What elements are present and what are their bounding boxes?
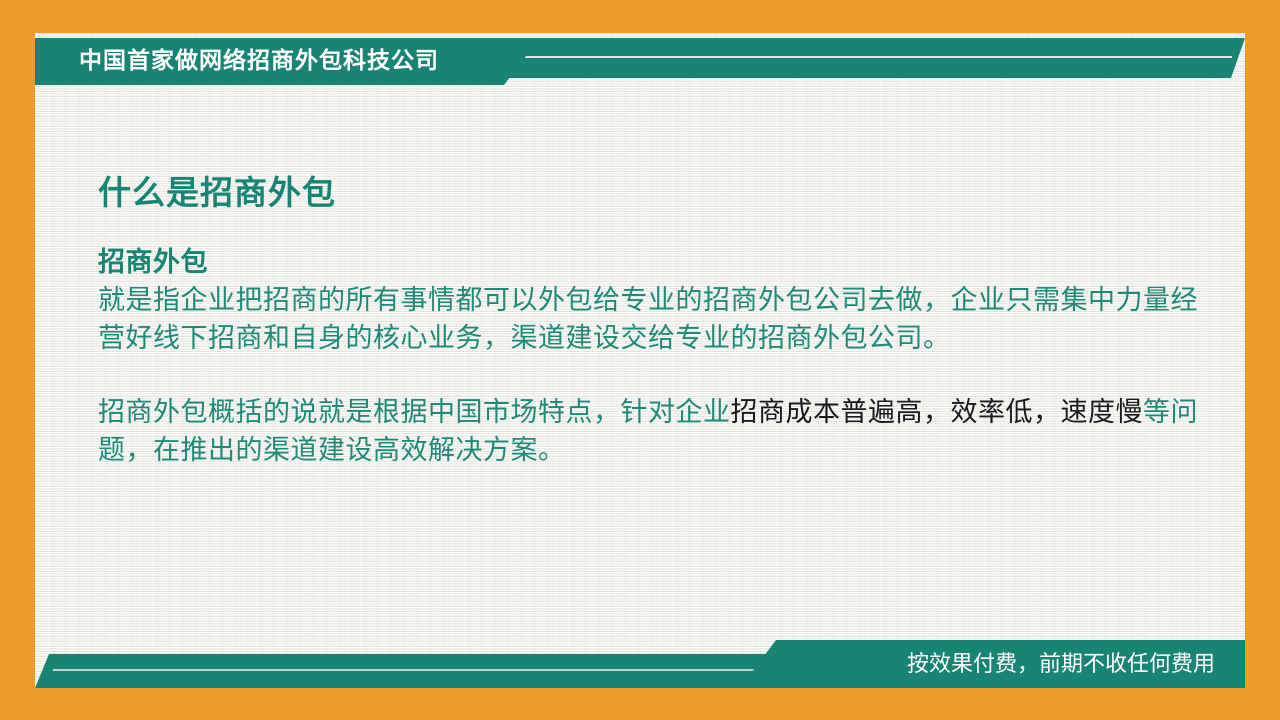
paragraph-spacer xyxy=(98,358,1218,394)
footer-tagline: 按效果付费，前期不收任何费用 xyxy=(907,651,1215,679)
section-title: 什么是招商外包 xyxy=(98,170,1218,216)
paragraph-summary: 招商外包概括的说就是根据中国市场特点，针对企业招商成本普遍高，效率低，速度慢等问… xyxy=(98,394,1218,470)
slide-canvas: 中国首家做网络招商外包科技公司 什么是招商外包 招商外包就是指企业把招商的所有事… xyxy=(0,0,1280,720)
summary-part-1: 招商外包概括的说就是根据中国市场特点，针对企业 xyxy=(98,397,731,428)
footer-hairline xyxy=(53,669,783,671)
footer-band: 按效果付费，前期不收任何费用 xyxy=(35,640,1245,688)
summary-highlight: 招商成本普遍高，效率低，速度慢 xyxy=(731,397,1144,428)
header-band: 中国首家做网络招商外包科技公司 xyxy=(35,33,1245,85)
slide-content: 什么是招商外包 招商外包就是指企业把招商的所有事情都可以外包给专业的招商外包公司… xyxy=(98,170,1218,470)
header-title: 中国首家做网络招商外包科技公司 xyxy=(79,46,439,76)
definition-term: 招商外包 xyxy=(98,244,1218,282)
paragraph-definition: 招商外包就是指企业把招商的所有事情都可以外包给专业的招商外包公司去做，企业只需集… xyxy=(98,244,1218,358)
definition-body: 就是指企业把招商的所有事情都可以外包给专业的招商外包公司去做，企业只需集中力量经… xyxy=(98,285,1198,354)
